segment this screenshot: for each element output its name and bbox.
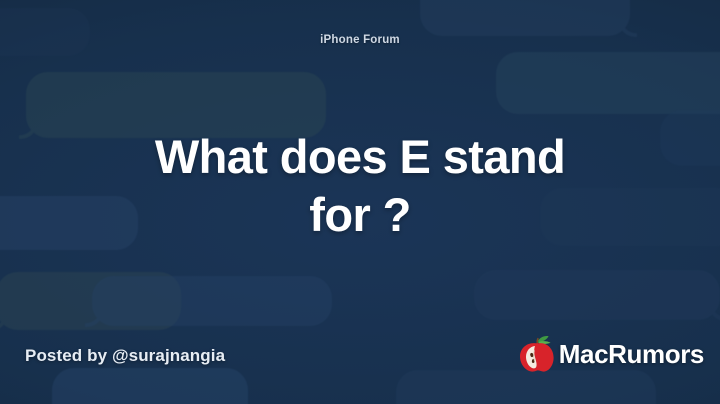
title-line-2: for ? <box>309 188 410 241</box>
share-card: iPhone Forum What does E stand for ? Pos… <box>0 0 720 404</box>
apple-logo-icon <box>515 334 557 374</box>
page-title: What does E stand for ? <box>60 128 660 245</box>
macrumors-logo[interactable]: MacRumors <box>515 334 704 374</box>
forum-label: iPhone Forum <box>0 34 720 46</box>
byline-posted-by: Posted by @surajnangia <box>25 346 225 366</box>
title-line-1: What does E stand <box>155 130 565 183</box>
macrumors-wordmark: MacRumors <box>559 341 704 367</box>
card-content: iPhone Forum What does E stand for ? Pos… <box>0 0 720 404</box>
